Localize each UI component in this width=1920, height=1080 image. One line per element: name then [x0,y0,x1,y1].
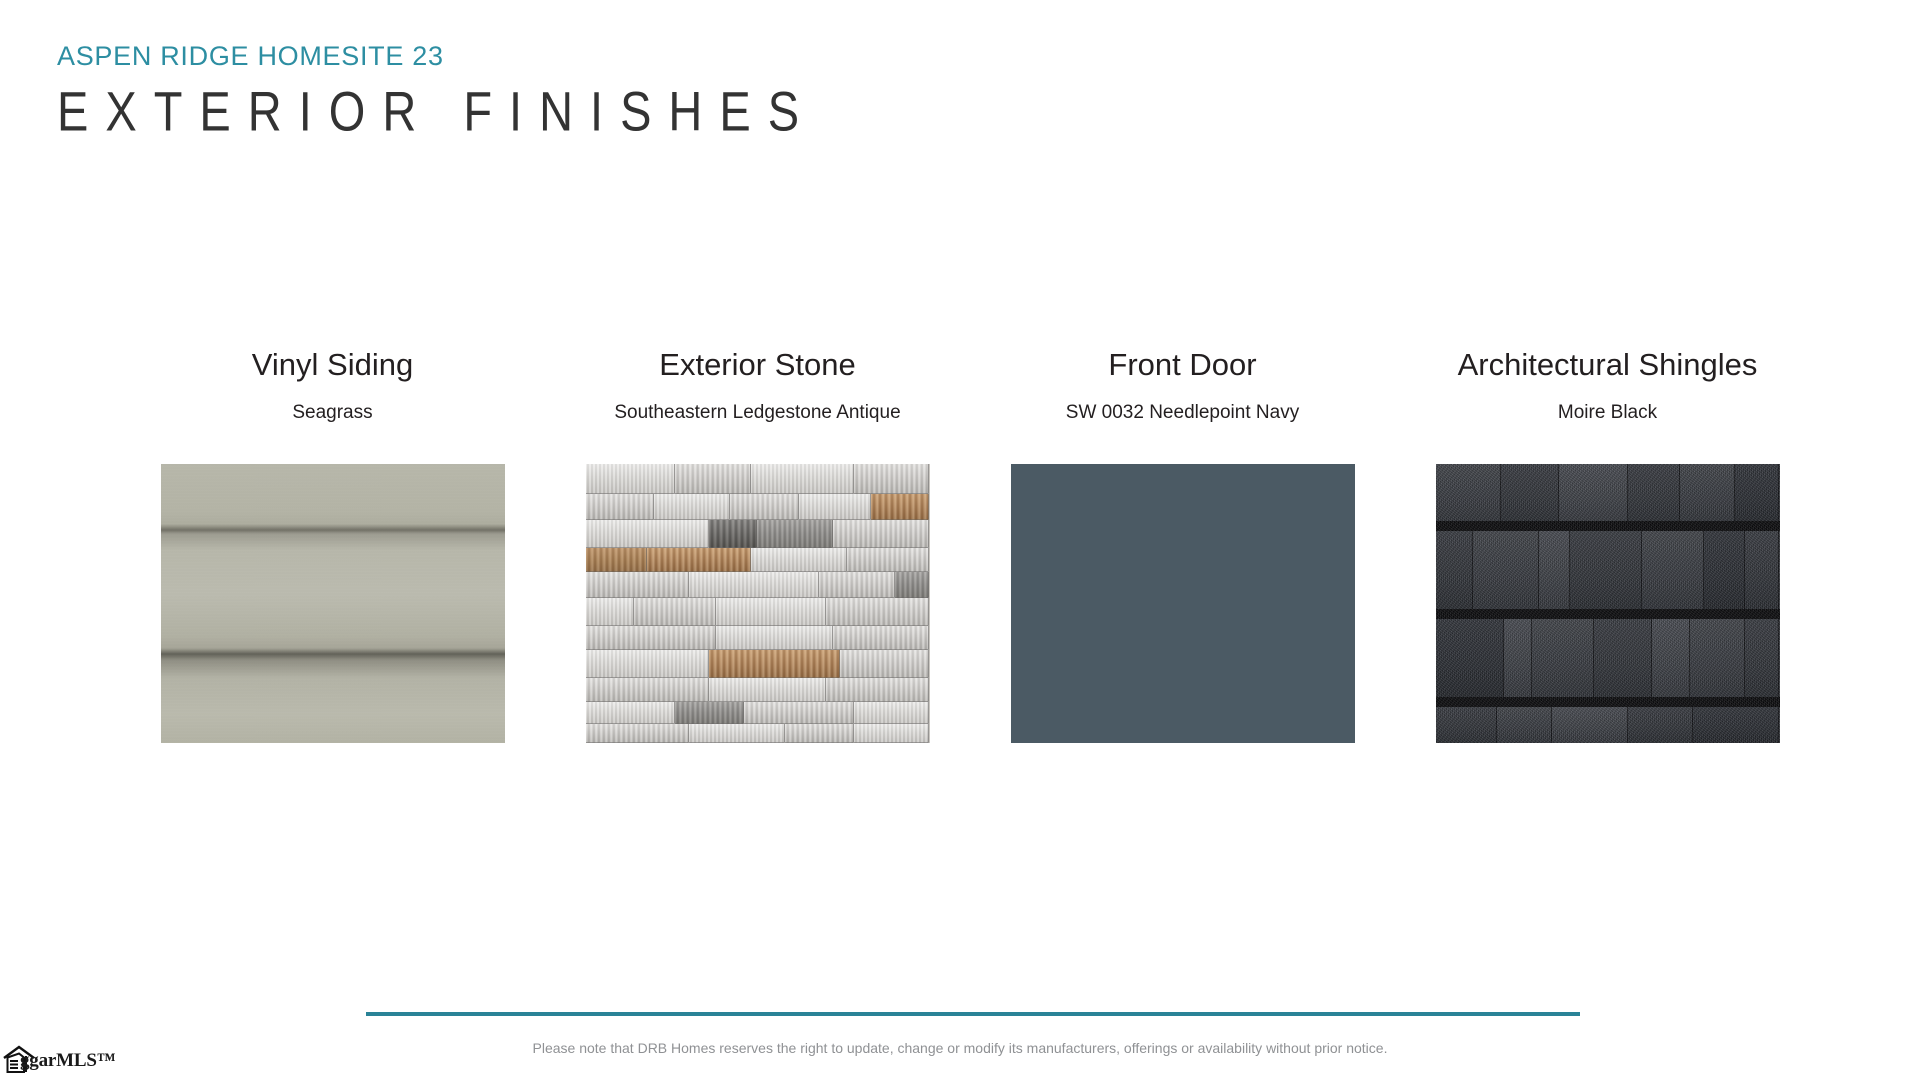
finish-subtitle: Moire Black [1558,402,1657,425]
finish-title: Architectural Shingles [1458,348,1758,382]
finish-column-exterior-stone: Exterior Stone Southeastern Ledgestone A… [545,348,970,743]
finish-subtitle: Seagrass [292,402,372,425]
page-title: EXTERIOR FINISHES [57,82,816,140]
exterior-stone-swatch [586,464,930,743]
finish-column-front-door: Front Door SW 0032 Needlepoint Navy [970,348,1395,743]
finish-subtitle: SW 0032 Needlepoint Navy [1066,402,1299,425]
front-door-swatch [1011,464,1355,743]
finish-title: Front Door [1108,348,1256,382]
community-eyebrow: ASPEN RIDGE HOMESITE 23 [57,42,816,70]
mls-watermark-label: ggarMLS™ [20,1050,116,1072]
finish-subtitle: Southeastern Ledgestone Antique [614,402,900,425]
finish-column-vinyl-siding: Vinyl Siding Seagrass [120,348,545,743]
disclaimer-text: Please note that DRB Homes reserves the … [0,1039,1920,1057]
finish-title: Vinyl Siding [252,348,413,382]
slide-header: ASPEN RIDGE HOMESITE 23 EXTERIOR FINISHE… [57,42,816,132]
finishes-grid: Vinyl Siding Seagrass Exterior Stone Sou… [120,348,1820,743]
finish-title: Exterior Stone [659,348,855,382]
architectural-shingles-swatch [1436,464,1780,743]
vinyl-siding-swatch [161,464,505,743]
finish-column-architectural-shingles: Architectural Shingles Moire Black [1395,348,1820,743]
footer-divider [366,1012,1580,1016]
